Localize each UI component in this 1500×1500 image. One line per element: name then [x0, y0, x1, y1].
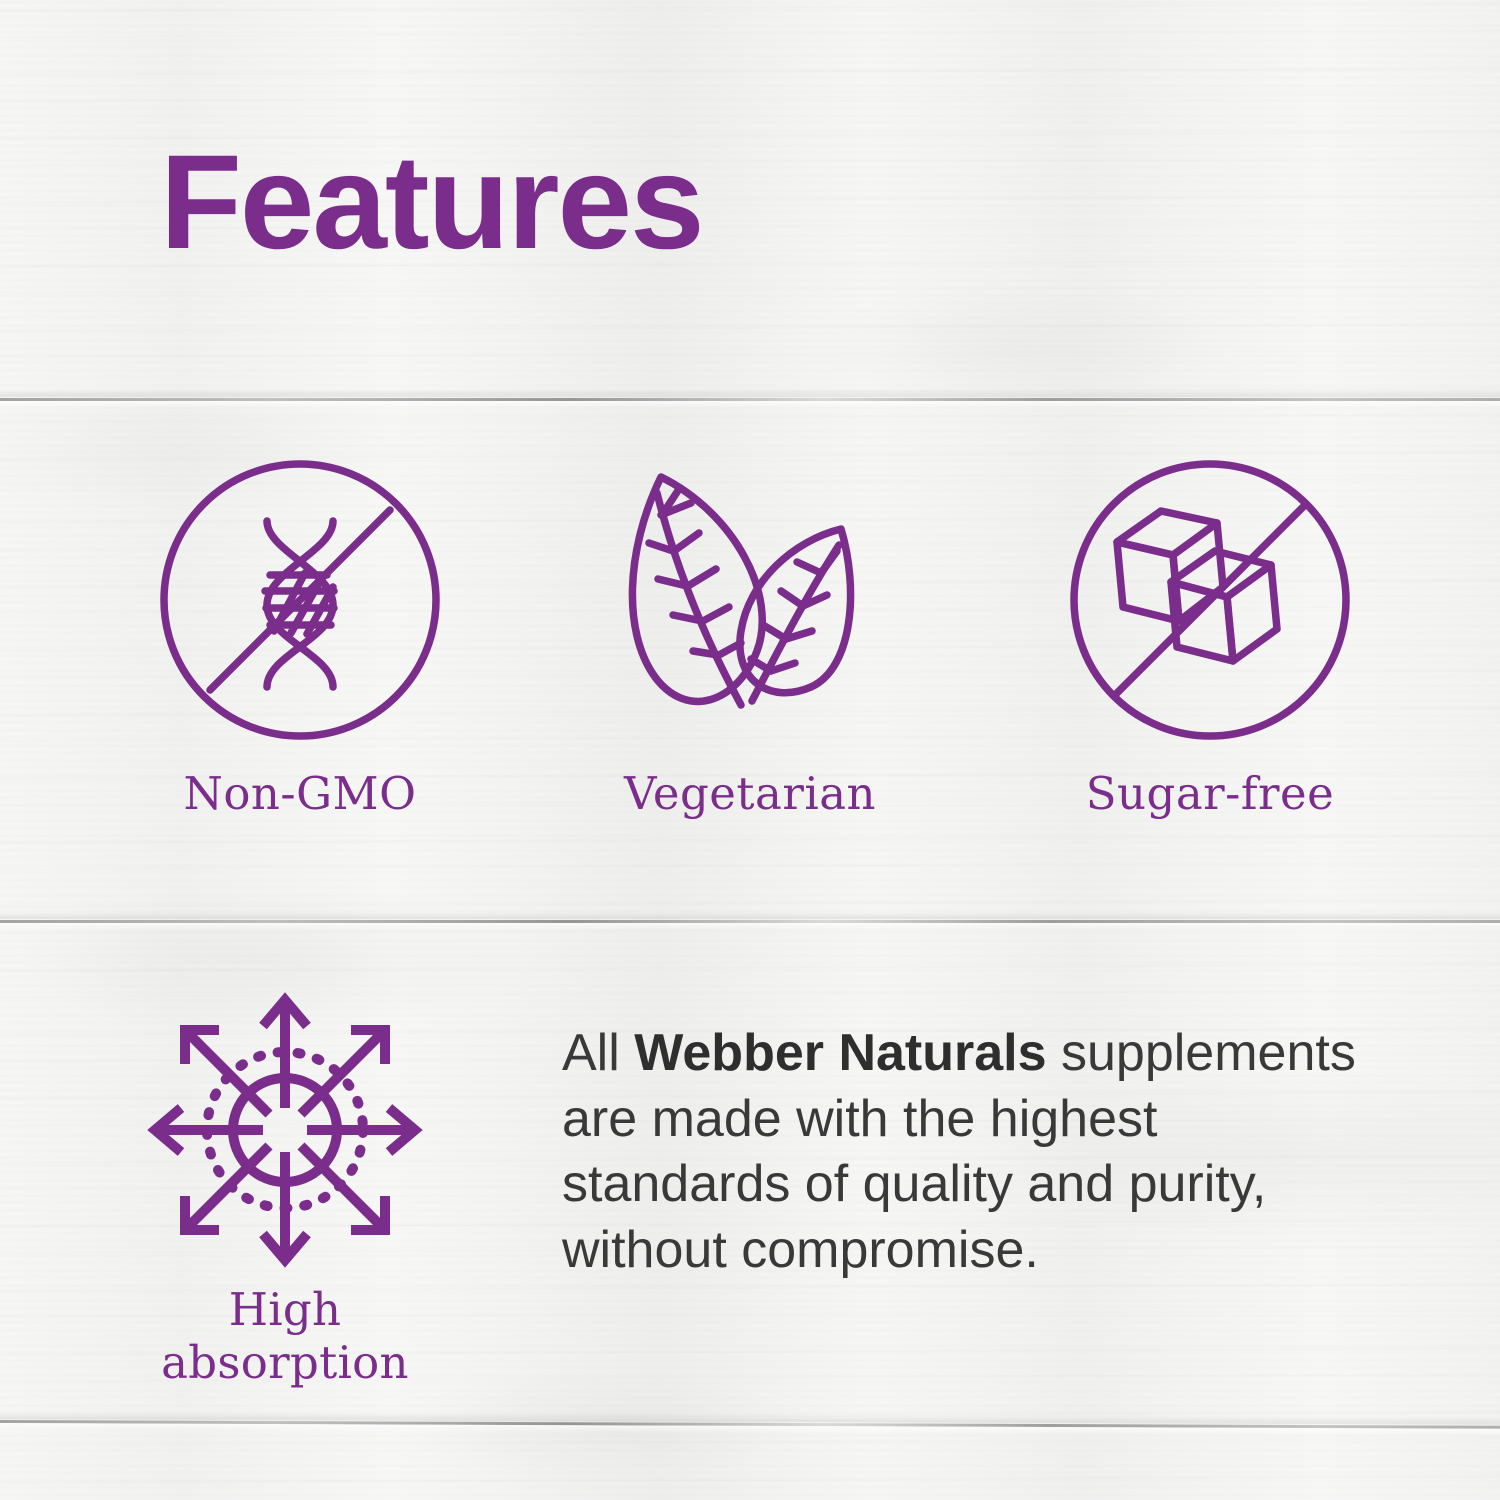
- feature-item-vegetarian: Vegetarian: [535, 455, 965, 820]
- feature-label: High absorption: [105, 1283, 465, 1389]
- feature-row-primary: Non-GMO: [0, 455, 1500, 855]
- feature-item-sugar-free: Sugar-free: [995, 455, 1425, 820]
- plank-seam-3: [0, 1420, 1500, 1426]
- radiating-arrows-circle-icon: [105, 985, 465, 1275]
- feature-label: Sugar-free: [995, 767, 1425, 820]
- brand-statement-lead: All: [562, 1024, 634, 1082]
- feature-item-non-gmo: Non-GMO: [85, 455, 515, 820]
- feature-panel: Features: [0, 0, 1500, 1500]
- brand-statement: All Webber Naturals supplements are made…: [562, 1021, 1392, 1283]
- sugar-cubes-no-symbol-icon: [995, 455, 1425, 745]
- brand-name: Webber Naturals: [634, 1024, 1046, 1082]
- feature-label: Non-GMO: [85, 767, 515, 820]
- feature-label: Vegetarian: [535, 767, 965, 820]
- feature-row-secondary: High absorption All Webber Naturals supp…: [0, 985, 1500, 1405]
- two-leaves-icon: [535, 455, 965, 745]
- dna-no-symbol-icon: [85, 455, 515, 745]
- page-title: Features: [160, 136, 703, 270]
- feature-item-high-absorption: High absorption: [105, 985, 465, 1389]
